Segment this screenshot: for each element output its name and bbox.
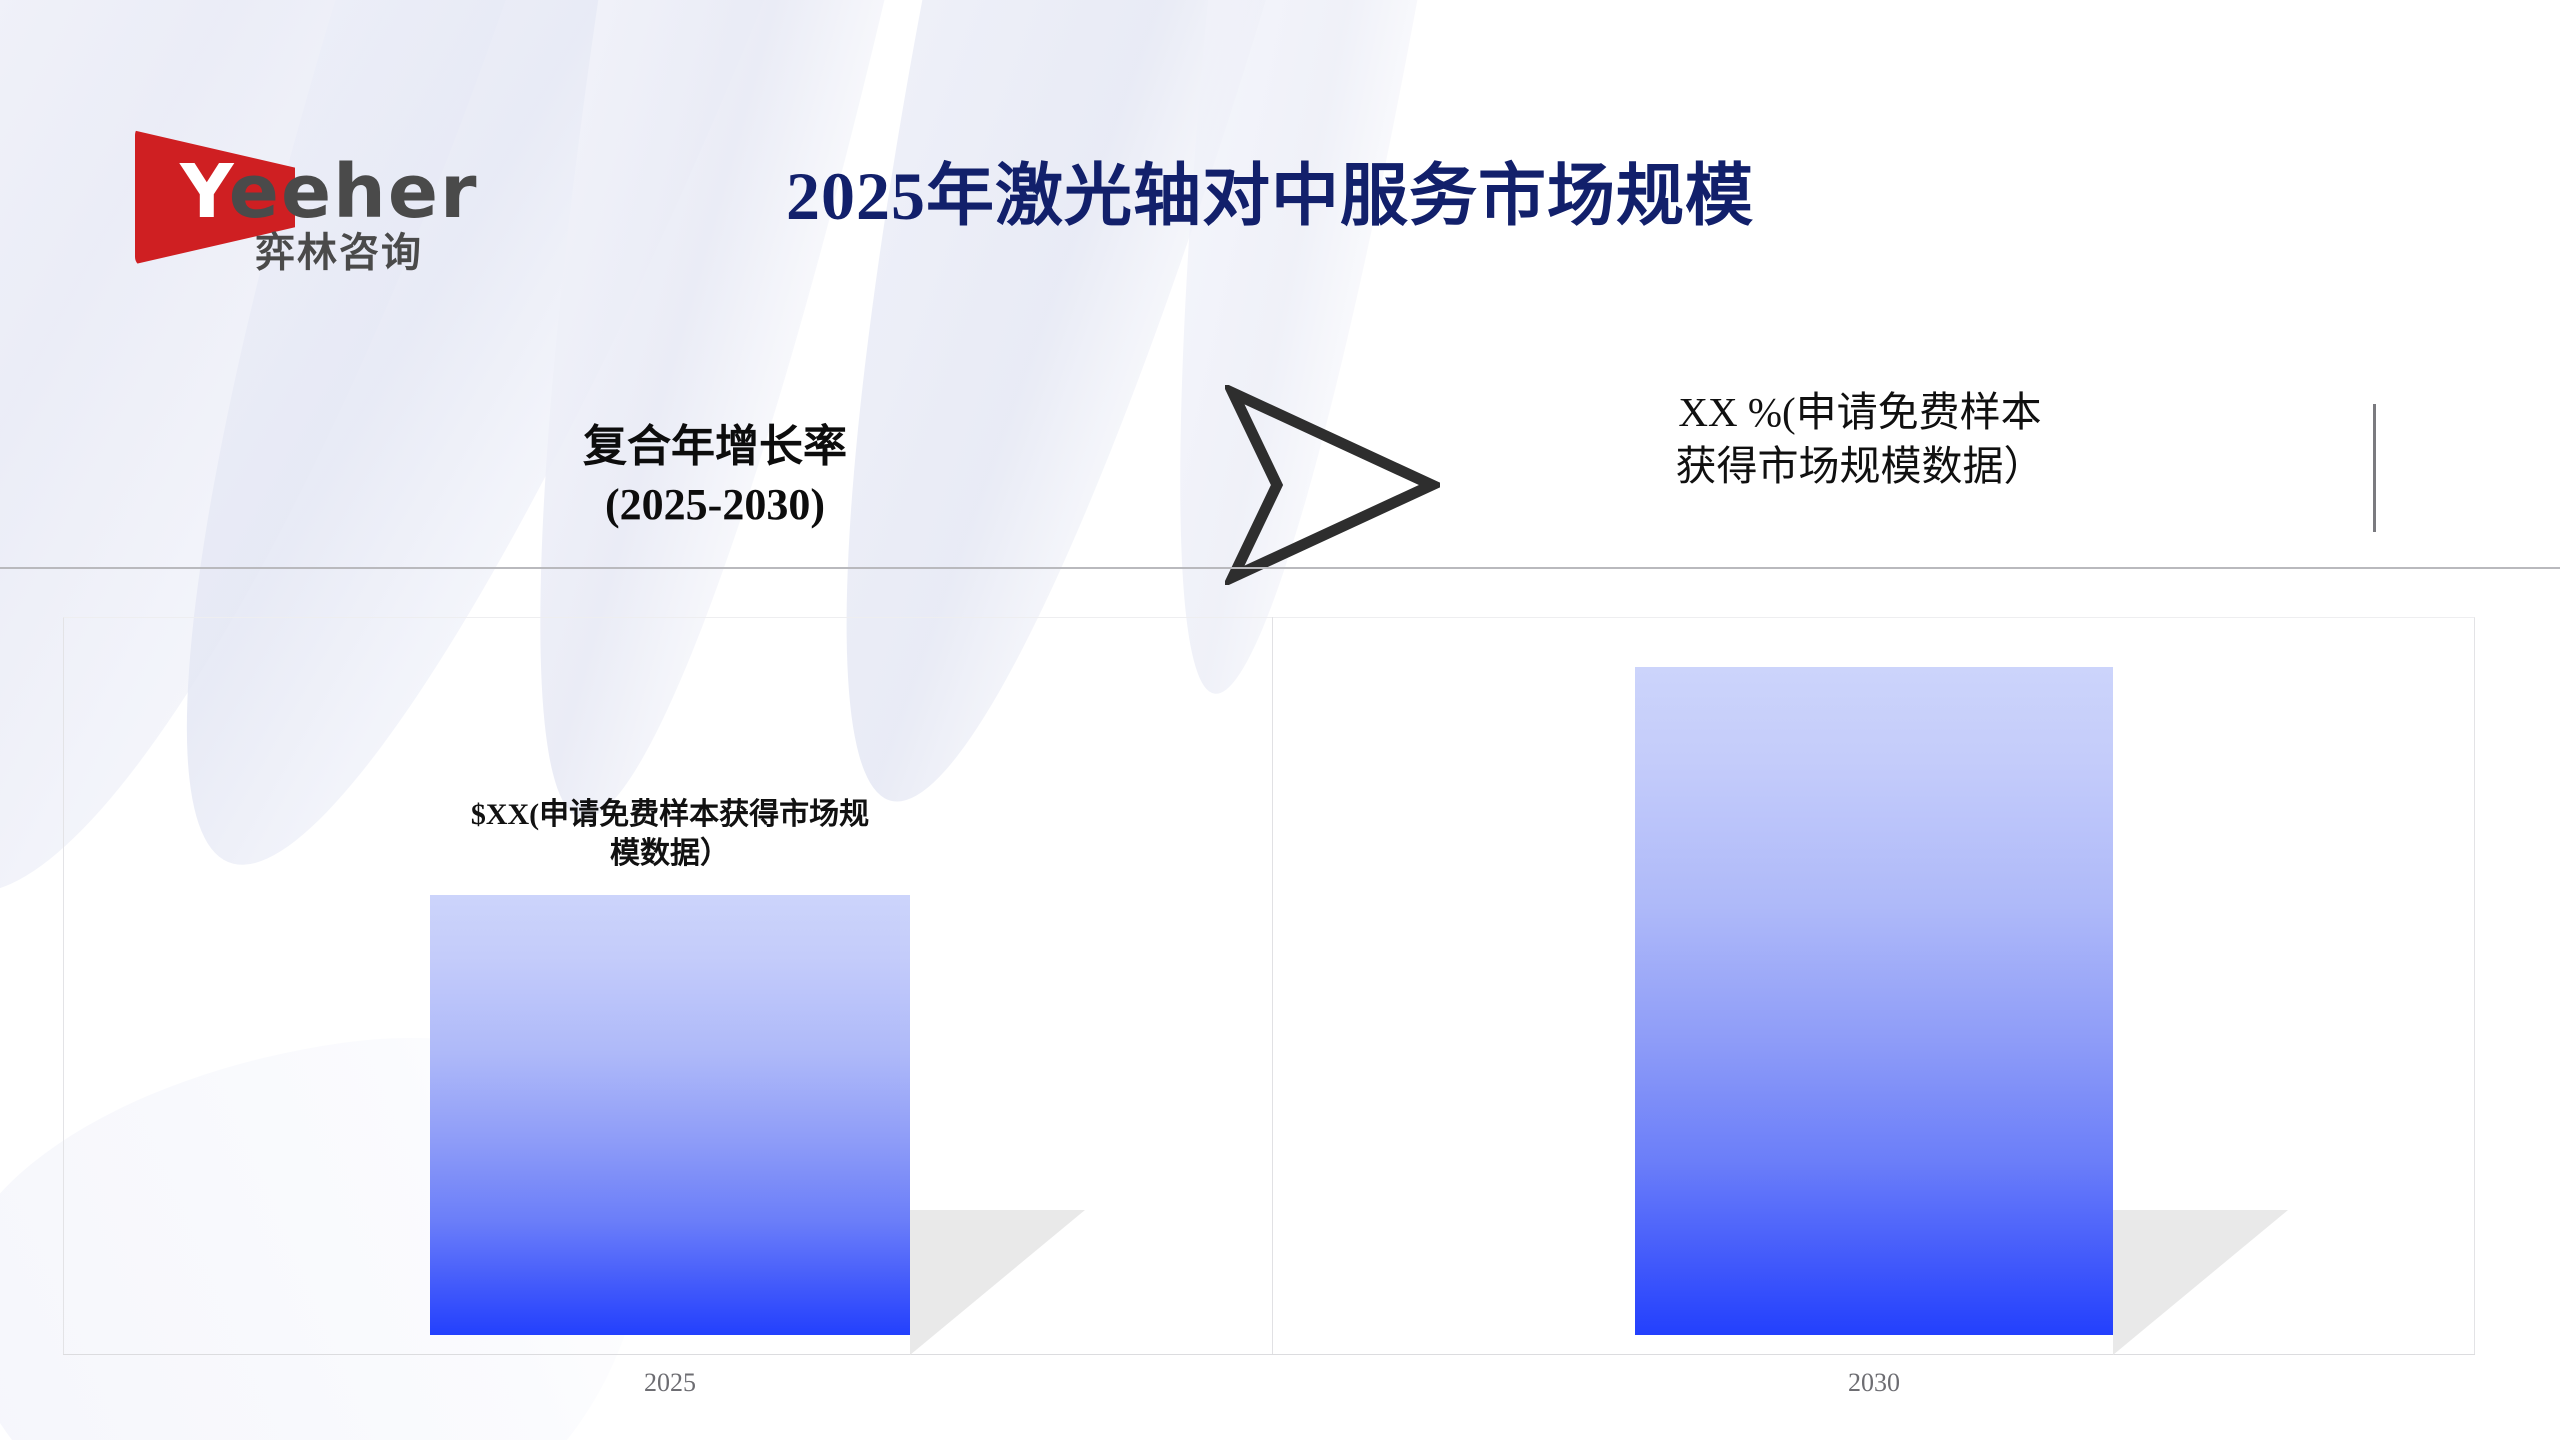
cagr-value-line2: 获得市场规模数据） (1600, 439, 2120, 493)
bar-2025 (430, 895, 910, 1335)
cagr-value-note: XX %(申请免费样本 获得市场规模数据） (1600, 385, 2120, 493)
logo-wordmark-y: Y (180, 149, 229, 235)
x-tick-label-2030: 2030 (1784, 1368, 1964, 1398)
logo-chinese-name: 弈林咨询 (255, 233, 423, 273)
bar-2030 (1635, 667, 2113, 1335)
bar-value-label-2025-line1: $XX(申请免费样本获得市场规 (420, 795, 920, 834)
vertical-divider-right (2373, 404, 2376, 532)
logo-wordmark: Yeeher (180, 155, 479, 229)
bar-value-label-2025: $XX(申请免费样本获得市场规 模数据） (420, 795, 920, 873)
slide-canvas: Yeeher 弈林咨询 2025年激光轴对中服务市场规模 复合年增长率 (202… (0, 0, 2560, 1440)
x-tick-label-2025: 2025 (580, 1368, 760, 1398)
bar-value-label-2025-line2: 模数据） (420, 834, 920, 873)
right-arrow-outline-icon (1225, 385, 1440, 585)
header-divider (0, 567, 2560, 569)
chart-column-divider (1272, 617, 1273, 1355)
brand-logo: Yeeher 弈林咨询 (120, 115, 460, 285)
cagr-label-line2: (2025-2030) (500, 476, 930, 534)
background-swoosh-5 (1101, 0, 1510, 710)
logo-wordmark-rest: eeher (229, 149, 479, 235)
cagr-label: 复合年增长率 (2025-2030) (500, 418, 930, 534)
page-title: 2025年激光轴对中服务市场规模 (640, 140, 1900, 239)
cagr-label-line1: 复合年增长率 (500, 418, 930, 476)
cagr-value-line1: XX %(申请免费样本 (1600, 385, 2120, 439)
